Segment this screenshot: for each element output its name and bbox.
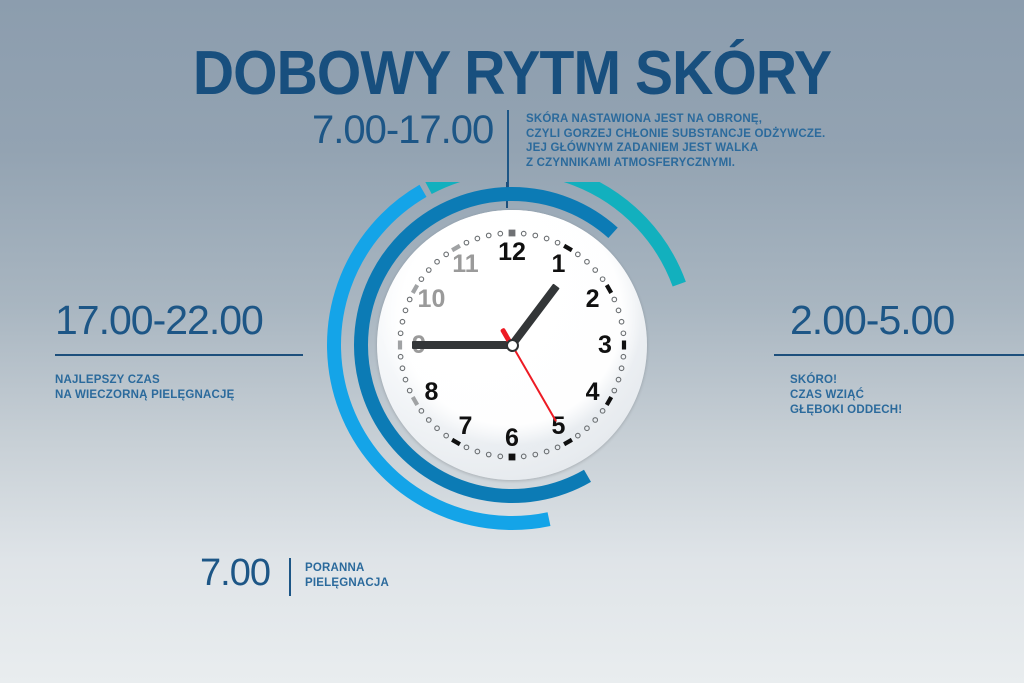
clock-assembly: 121234567891011 <box>272 182 752 602</box>
night-description-line: SKÓRO! <box>790 373 1024 388</box>
minute-marker <box>593 418 598 423</box>
daytime-divider <box>507 110 509 188</box>
clock-numeral: 8 <box>411 379 451 405</box>
minute-marker <box>533 452 538 457</box>
minute-marker <box>593 268 598 273</box>
minute-marker <box>555 240 560 245</box>
evening-description-line: NA WIECZORNĄ PIELĘGNACJĘ <box>55 388 303 403</box>
minute-marker <box>464 240 469 245</box>
clock-numeral: 5 <box>539 413 579 439</box>
daytime-description: SKÓRA NASTAWIONA JEST NA OBRONĘ, CZYLI G… <box>526 112 826 170</box>
minute-marker <box>435 259 440 264</box>
minute-marker <box>400 319 405 324</box>
minute-marker <box>403 377 408 382</box>
minute-marker <box>555 445 560 450</box>
minute-marker <box>419 277 424 282</box>
minute-marker <box>616 377 621 382</box>
minute-marker <box>616 308 621 313</box>
evening-section: 17.00-22.00 NAJLEPSZY CZAS NA WIECZORNĄ … <box>55 298 303 403</box>
daytime-description-line: Z CZYNNIKAMI ATMOSFERYCZNYMI. <box>526 156 826 171</box>
minute-marker <box>619 366 624 371</box>
daytime-description-line: CZYLI GORZEJ CHŁONIE SUBSTANCJE ODŻYWCZE… <box>526 127 826 142</box>
clock-numeral: 2 <box>573 286 613 312</box>
clock-face: 121234567891011 <box>377 210 647 480</box>
evening-description: NAJLEPSZY CZAS NA WIECZORNĄ PIELĘGNACJĘ <box>55 373 303 403</box>
minute-marker <box>612 388 617 393</box>
daytime-description-line: SKÓRA NASTAWIONA JEST NA OBRONĘ, <box>526 112 826 127</box>
minute-marker <box>544 236 549 241</box>
daytime-time-label: 7.00-17.00 <box>312 108 493 153</box>
night-description-line: CZAS WZIĄĆ <box>790 388 1024 403</box>
minute-marker <box>521 454 526 459</box>
minute-marker <box>521 231 526 236</box>
minute-marker <box>612 297 617 302</box>
minute-marker <box>533 233 538 238</box>
minute-marker <box>475 449 480 454</box>
evening-rule <box>55 354 303 356</box>
clock-numeral: 11 <box>446 251 486 277</box>
clock-numeral: 6 <box>492 425 532 451</box>
minute-marker <box>486 233 491 238</box>
minute-marker <box>619 319 624 324</box>
minute-marker <box>600 409 605 414</box>
minute-marker <box>600 277 605 282</box>
minute-marker <box>544 449 549 454</box>
minute-marker <box>475 236 480 241</box>
minute-marker <box>464 445 469 450</box>
minute-marker <box>585 259 590 264</box>
night-description: SKÓRO! CZAS WZIĄĆ GŁĘBOKI ODDECH! <box>790 373 1024 418</box>
minute-marker <box>419 409 424 414</box>
daytime-section: 7.00-17.00 SKÓRA NASTAWIONA JEST NA OBRO… <box>312 108 732 188</box>
morning-time-label: 7.00 <box>200 552 270 595</box>
minute-marker <box>498 454 503 459</box>
hour-marker <box>509 454 516 461</box>
minute-marker <box>400 366 405 371</box>
minute-marker <box>426 418 431 423</box>
hour-marker <box>509 230 516 237</box>
clock-center-cap <box>506 339 519 352</box>
clock-numeral: 4 <box>573 379 613 405</box>
minute-marker <box>486 452 491 457</box>
daytime-description-line: JEJ GŁÓWNYM ZADANIEM JEST WALKA <box>526 141 826 156</box>
page-title: DOBOWY RYTM SKÓRY <box>41 38 983 109</box>
clock-numeral: 10 <box>411 286 451 312</box>
clock-numeral: 3 <box>585 332 625 358</box>
minute-marker <box>585 426 590 431</box>
clock-numeral: 7 <box>446 413 486 439</box>
minute-marker <box>498 231 503 236</box>
minute-marker <box>426 268 431 273</box>
evening-time-label: 17.00-22.00 <box>55 298 303 342</box>
infographic-canvas: DOBOWY RYTM SKÓRY 7.00-17.00 SKÓRA NASTA… <box>0 0 1024 683</box>
night-section: 2.00-5.00 SKÓRO! CZAS WZIĄĆ GŁĘBOKI ODDE… <box>790 298 1024 418</box>
clock-numeral: 1 <box>539 251 579 277</box>
night-time-label: 2.00-5.00 <box>790 298 1024 342</box>
evening-description-line: NAJLEPSZY CZAS <box>55 373 303 388</box>
minute-marker <box>435 426 440 431</box>
night-rule <box>774 354 1024 356</box>
night-description-line: GŁĘBOKI ODDECH! <box>790 403 1024 418</box>
clock-numeral: 12 <box>492 239 532 265</box>
minute-marker <box>403 308 408 313</box>
